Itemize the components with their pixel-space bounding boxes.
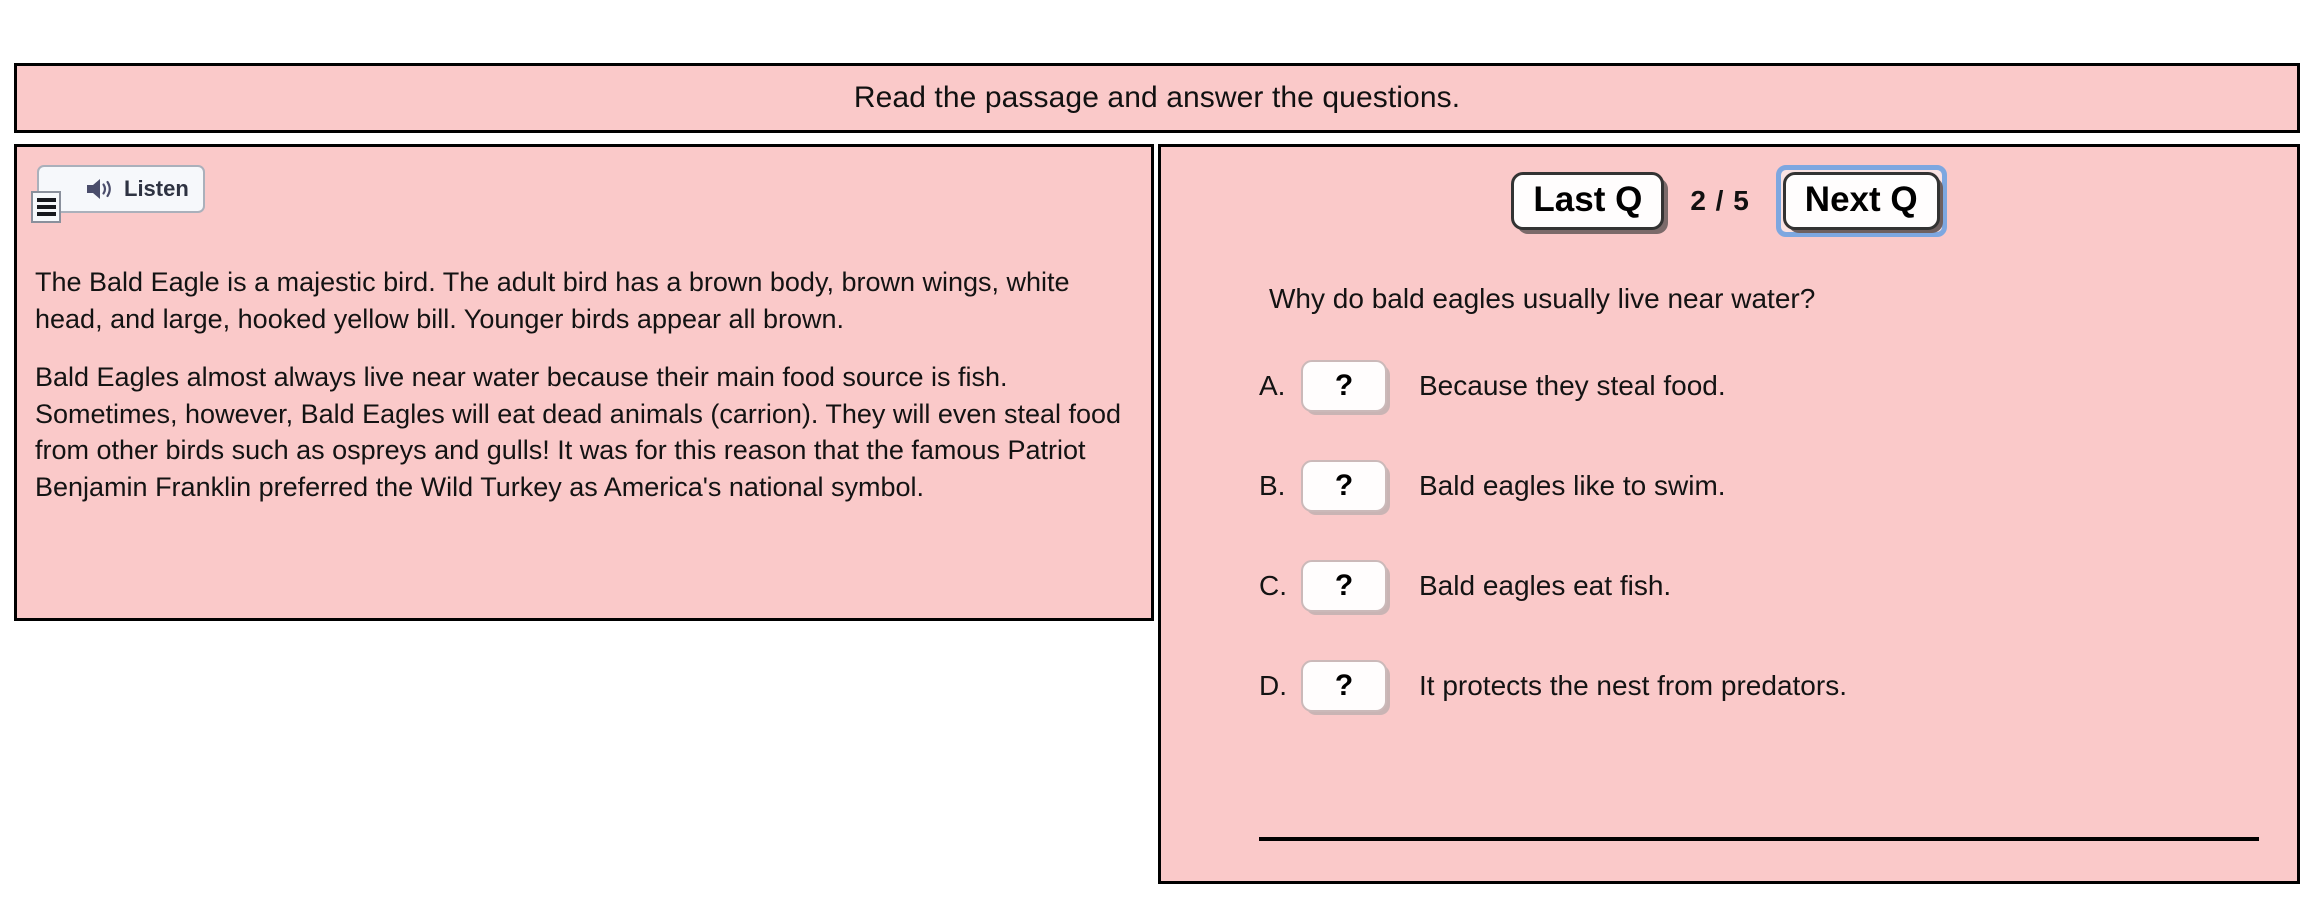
menu-bar-2 [37, 205, 56, 209]
menu-bar-3 [37, 212, 56, 216]
option-select-button-d[interactable]: ? [1301, 660, 1387, 712]
last-question-button[interactable]: Last Q [1511, 172, 1664, 230]
speaker-icon [85, 177, 115, 201]
question-navigation: Last Q 2 / 5 Next Q [1161, 165, 2297, 237]
answer-area-divider [1259, 837, 2259, 841]
answer-options-list: A. ? Because they steal food. B. ? Bald … [1259, 352, 2269, 752]
hamburger-menu-icon[interactable] [31, 191, 61, 223]
option-letter-b: B. [1259, 472, 1301, 500]
answer-option-c: C. ? Bald eagles eat fish. [1259, 552, 2269, 620]
menu-bar-1 [37, 198, 56, 202]
option-letter-a: A. [1259, 372, 1301, 400]
listen-button[interactable]: Listen [37, 165, 205, 213]
option-text-b: Bald eagles like to swim. [1419, 472, 1726, 500]
next-question-button-focus-ring: Next Q [1776, 165, 1947, 237]
option-select-button-c[interactable]: ? [1301, 560, 1387, 612]
option-letter-d: D. [1259, 672, 1301, 700]
option-text-a: Because they steal food. [1419, 372, 1726, 400]
answer-option-a: A. ? Because they steal food. [1259, 352, 2269, 420]
option-select-button-a[interactable]: ? [1301, 360, 1387, 412]
passage-panel: Listen The Bald Eagle is a majestic bird… [14, 144, 1154, 621]
page-title: Read the passage and answer the question… [854, 81, 1460, 115]
passage-paragraph-2: Bald Eagles almost always live near wate… [35, 359, 1125, 505]
passage-text-body: The Bald Eagle is a majestic bird. The a… [35, 264, 1137, 505]
option-select-button-b[interactable]: ? [1301, 460, 1387, 512]
question-panel: Last Q 2 / 5 Next Q Why do bald eagles u… [1158, 144, 2300, 884]
option-text-d: It protects the nest from predators. [1419, 672, 1847, 700]
question-prompt: Why do bald eagles usually live near wat… [1269, 281, 1815, 317]
question-counter: 2 / 5 [1690, 185, 1749, 217]
passage-paragraph-1: The Bald Eagle is a majestic bird. The a… [35, 264, 1125, 337]
listen-button-label: Listen [124, 178, 189, 200]
instruction-header-bar: Read the passage and answer the question… [14, 63, 2300, 133]
next-question-button[interactable]: Next Q [1783, 172, 1940, 230]
answer-option-d: D. ? It protects the nest from predators… [1259, 652, 2269, 720]
answer-option-b: B. ? Bald eagles like to swim. [1259, 452, 2269, 520]
option-letter-c: C. [1259, 572, 1301, 600]
option-text-c: Bald eagles eat fish. [1419, 572, 1671, 600]
